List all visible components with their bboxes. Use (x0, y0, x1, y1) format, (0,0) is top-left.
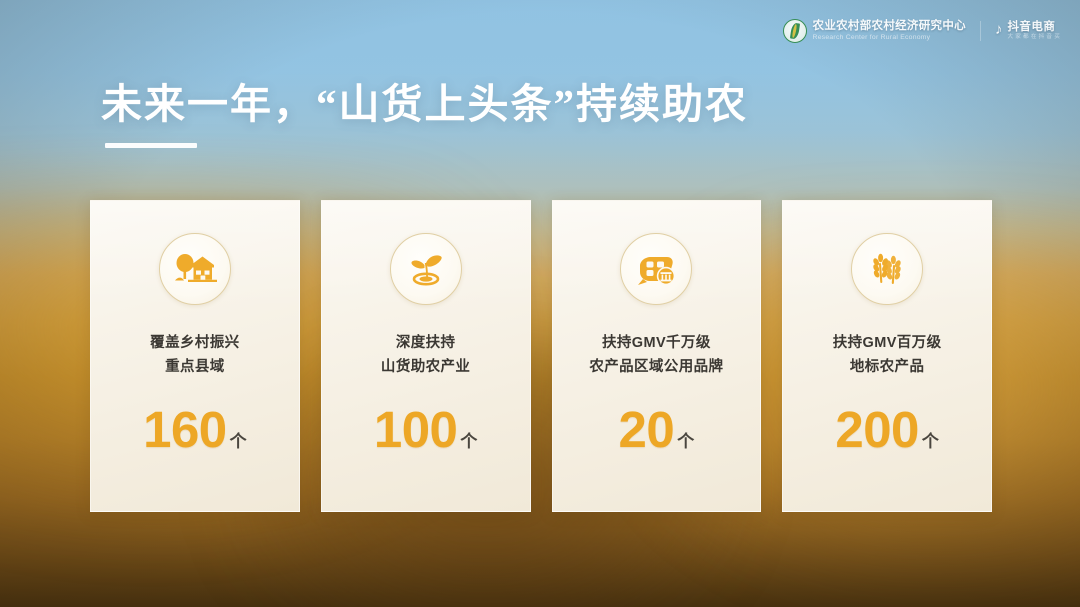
header-logo-bar: 农业农村部农村经济研究中心 Research Center for Rural … (783, 19, 1062, 43)
leaf-circle-icon (783, 19, 807, 43)
slide-canvas: 农业农村部农村经济研究中心 Research Center for Rural … (0, 0, 1080, 607)
stat-unit: 个 (460, 432, 477, 451)
stat-card-description: 扶持GMV百万级 地标农产品 (833, 332, 942, 380)
wheat-ears-icon (851, 233, 923, 305)
logo-divider (980, 21, 981, 41)
stat-card-number: 200个 (783, 400, 991, 459)
douyin-logo-text: 抖音电商 大家都在抖音买 (1007, 21, 1062, 41)
douyin-logo-cn: 抖音电商 (1007, 21, 1062, 33)
stat-card[interactable]: 扶持GMV百万级 地标农产品 200个 (782, 200, 992, 512)
douyin-logo-sub: 大家都在抖音买 (1007, 35, 1062, 41)
gov-logo-text: 农业农村部农村经济研究中心 Research Center for Rural … (813, 20, 966, 41)
stat-unit: 个 (677, 432, 694, 451)
gov-logo-en: Research Center for Rural Economy (813, 34, 966, 41)
village-house-icon (159, 233, 231, 305)
stat-card-row: 覆盖乡村振兴 重点县域 160个 (90, 200, 992, 512)
stat-unit: 个 (922, 432, 939, 451)
stat-desc-line-1: 扶持GMV千万级 (602, 335, 711, 351)
stat-desc-line-2: 农产品区域公用品牌 (589, 356, 723, 380)
stat-desc-line-1: 扶持GMV百万级 (833, 335, 942, 351)
stat-desc-line-1: 覆盖乡村振兴 (150, 335, 239, 351)
douyin-ecommerce-logo: ♪ 抖音电商 大家都在抖音买 (995, 21, 1062, 41)
stat-value: 160 (143, 401, 227, 458)
stat-card-description: 覆盖乡村振兴 重点县域 (150, 332, 239, 380)
stat-card-number: 20个 (553, 400, 761, 459)
stat-card[interactable]: 覆盖乡村振兴 重点县域 160个 (90, 200, 300, 512)
stat-value: 100 (374, 401, 458, 458)
stat-value: 200 (835, 401, 919, 458)
stat-card-description: 深度扶持 山货助农产业 (381, 332, 470, 380)
slide-title: 未来一年，“山货上头条”持续助农 (101, 70, 748, 130)
stat-desc-line-2: 重点县域 (150, 356, 239, 380)
stat-unit: 个 (230, 432, 247, 451)
stat-desc-line-1: 深度扶持 (396, 335, 456, 351)
sprout-icon (390, 233, 462, 305)
stat-card[interactable]: 深度扶持 山货助农产业 100个 (321, 200, 531, 512)
stat-card-number: 160个 (91, 400, 299, 459)
stat-card-description: 扶持GMV千万级 农产品区域公用品牌 (589, 332, 723, 380)
gov-research-center-logo: 农业农村部农村经济研究中心 Research Center for Rural … (783, 19, 966, 43)
stat-desc-line-2: 山货助农产业 (381, 356, 470, 380)
title-underline-rule (105, 143, 197, 148)
stat-card[interactable]: 扶持GMV千万级 农产品区域公用品牌 20个 (552, 200, 762, 512)
stat-desc-line-2: 地标农产品 (833, 356, 942, 380)
stat-value: 20 (619, 401, 675, 458)
gov-logo-cn: 农业农村部农村经济研究中心 (813, 20, 966, 32)
stat-card-number: 100个 (322, 400, 530, 459)
region-brand-icon (620, 233, 692, 305)
douyin-note-icon: ♪ (995, 22, 1003, 37)
